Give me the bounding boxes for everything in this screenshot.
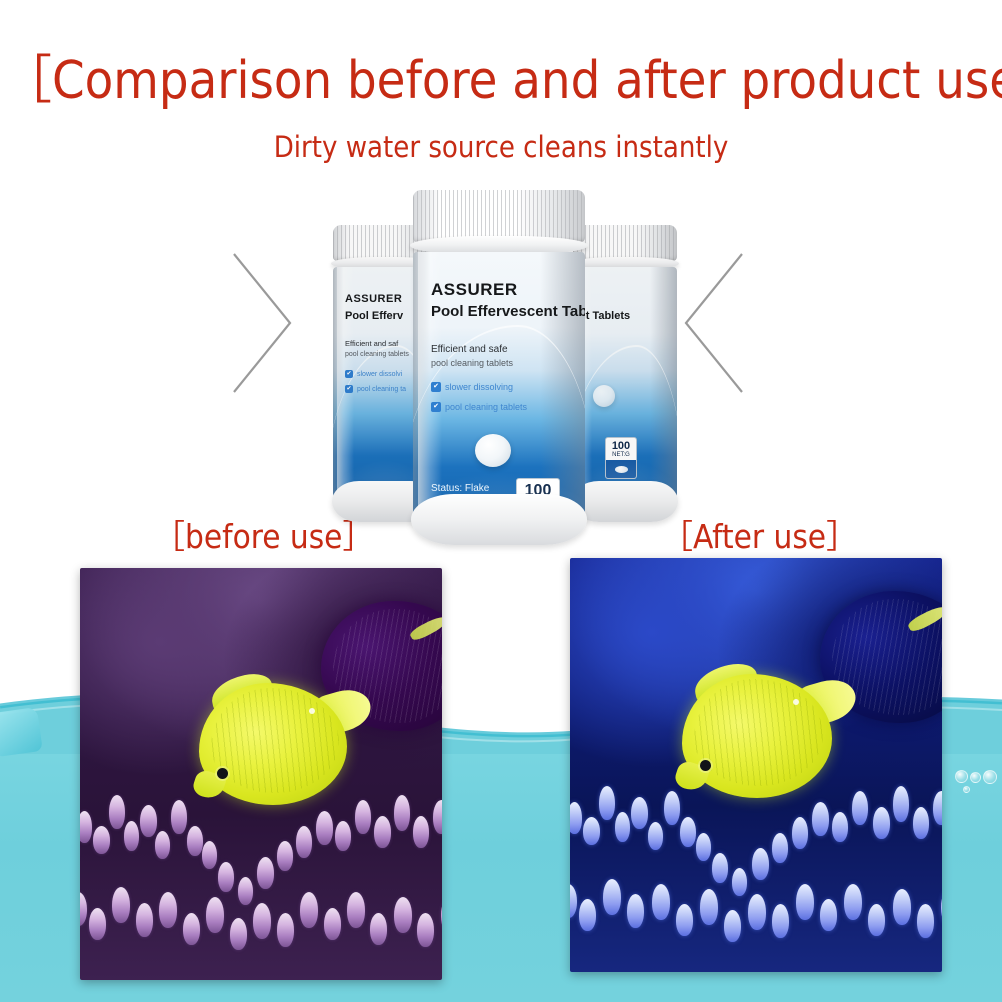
net-weight-badge: 100 NET:G <box>605 437 637 479</box>
photo-after-use[interactable] <box>570 558 942 972</box>
bottle-body: ASSURER Pool Effervescent Tablets Effici… <box>413 252 585 521</box>
bottle-left-tagline-1: Efficient and saf <box>345 339 398 348</box>
tang-highlight-dot <box>793 699 799 705</box>
bottle-center: ASSURER Pool Effervescent Tablets Effici… <box>413 190 585 535</box>
before-scene <box>80 568 442 980</box>
bottle-left-feature-1: ✔ slower dissolvi <box>345 370 402 378</box>
net-weight-unit: NET:G <box>612 452 630 460</box>
bottle-feature-1: ✔ slower dissolving <box>431 382 513 392</box>
bottle-body: nt Tablets 100 NET:G <box>573 267 677 503</box>
product-bottles-group: ASSURER Pool Efferv Efficient and saf po… <box>0 170 1002 530</box>
bottle-base <box>572 481 678 521</box>
tang-highlight-dot <box>309 708 315 714</box>
bottle-cap <box>413 190 585 242</box>
bottle-product-name: Pool Effervescent Tablets <box>431 303 585 320</box>
bottle-right-name: nt Tablets <box>579 310 630 322</box>
feature-label: slower dissolving <box>445 382 513 392</box>
check-icon: ✔ <box>431 382 441 392</box>
tablet-illustration <box>593 385 615 407</box>
bottle-right: nt Tablets 100 NET:G <box>573 225 677 513</box>
page-subtitle: Dirty water source cleans instantly <box>0 130 1002 164</box>
bottle-left-tagline-2: pool cleaning tablets <box>345 351 409 358</box>
feature-label: pool cleaning tablets <box>445 402 527 412</box>
foreground-coral <box>80 749 442 980</box>
after-scene <box>570 558 942 972</box>
product-comparison-page: ［Comparison before and after product use… <box>0 0 1002 1002</box>
feature-label: slower dissolvi <box>357 371 402 378</box>
photo-before-use[interactable] <box>80 568 442 980</box>
check-icon: ✔ <box>345 370 353 378</box>
bottle-base <box>411 494 586 546</box>
bottle-tagline-2: pool cleaning tablets <box>431 358 513 368</box>
page-title: ［Comparison before and after product use… <box>0 52 1002 110</box>
bottle-left-brand: ASSURER <box>345 293 402 305</box>
check-icon: ✔ <box>345 385 353 393</box>
bottle-brand: ASSURER <box>431 280 518 300</box>
water-splash-left <box>0 707 43 757</box>
tablet-illustration <box>475 434 511 467</box>
foreground-coral <box>570 740 942 972</box>
bottle-tagline-1: Efficient and safe <box>431 344 508 355</box>
check-icon: ✔ <box>431 402 441 412</box>
feature-label: pool cleaning ta <box>357 386 406 393</box>
net-weight-value: 100 <box>612 438 630 452</box>
bottle-left-feature-2: ✔ pool cleaning ta <box>345 385 406 393</box>
caption-after-use: ［After use］ <box>660 518 859 556</box>
bottle-cap <box>573 225 677 261</box>
caption-before-use: ［before use］ <box>152 518 375 556</box>
bottle-left-name: Pool Efferv <box>345 310 403 322</box>
bottle-feature-2: ✔ pool cleaning tablets <box>431 402 527 412</box>
